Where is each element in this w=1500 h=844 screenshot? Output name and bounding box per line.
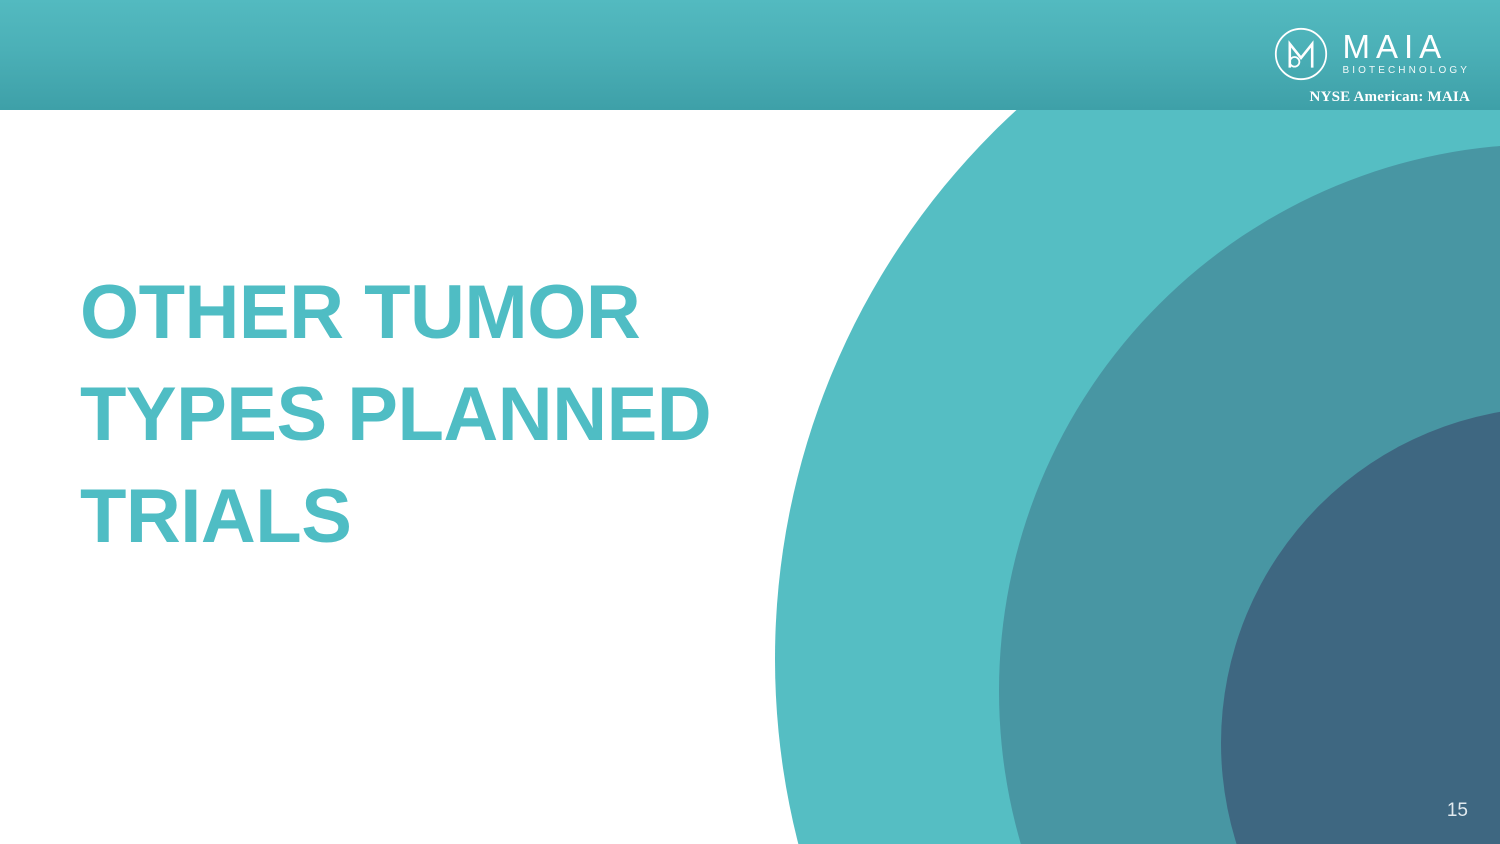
page-number: 15 <box>1447 800 1468 822</box>
brand-tagline: BIOTECHNOLOGY <box>1342 64 1470 77</box>
inner-navy-circle <box>1221 407 1500 844</box>
maia-monogram-circle-icon <box>1273 26 1329 82</box>
slide-canvas: MAIA BIOTECHNOLOGY NYSE American: MAIA O… <box>0 0 1500 844</box>
middle-teal-circle <box>999 144 1500 844</box>
title-block: Other Tumor Types Planned Trials <box>80 262 780 568</box>
brand-logo-row: MAIA BIOTECHNOLOGY <box>1273 26 1470 82</box>
brand-name: MAIA <box>1342 30 1447 64</box>
brand-lockup: MAIA BIOTECHNOLOGY NYSE American: MAIA <box>1273 26 1470 106</box>
outer-teal-circle <box>775 0 1500 844</box>
stock-ticker-label: NYSE American: MAIA <box>1310 89 1470 106</box>
slide-title: Other Tumor Types Planned Trials <box>80 262 780 568</box>
brand-wordmark: MAIA BIOTECHNOLOGY <box>1342 30 1470 79</box>
